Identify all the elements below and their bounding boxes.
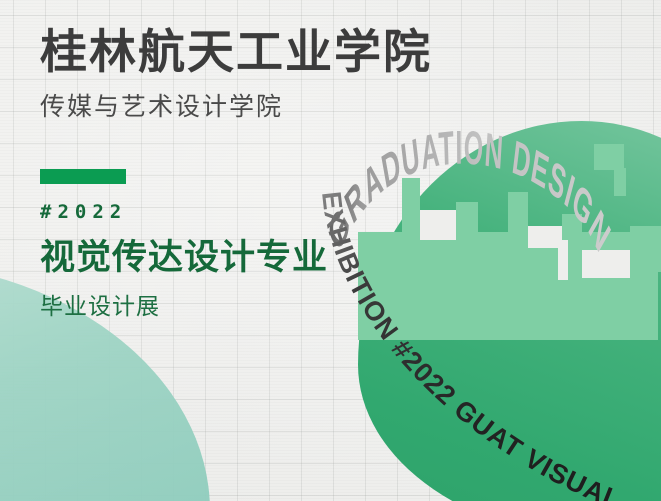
- green-accent-bar: [40, 169, 126, 184]
- skyline-block: [614, 168, 626, 196]
- poster-canvas: GRADUATION DESIGN EXHIBITION EXHIBITION …: [0, 0, 661, 501]
- skyline-block: [508, 192, 528, 238]
- department-subtitle: 传媒与艺术设计学院: [40, 87, 432, 123]
- skyline-cutout: [528, 226, 562, 248]
- institution-title: 桂林航天工业学院: [40, 28, 432, 77]
- skyline-block: [630, 226, 661, 272]
- major-name: 视觉传达设计专业: [40, 229, 432, 280]
- skyline-block: [456, 202, 478, 238]
- poster-text-block: 桂林航天工业学院 传媒与艺术设计学院 #2022 视觉传达设计专业 毕业设计展: [40, 28, 432, 321]
- skyline-cutout: [558, 240, 568, 280]
- year-tag: #2022: [40, 201, 432, 223]
- skyline-block: [594, 144, 624, 170]
- event-name: 毕业设计展: [40, 287, 432, 321]
- skyline-cutout: [582, 250, 630, 278]
